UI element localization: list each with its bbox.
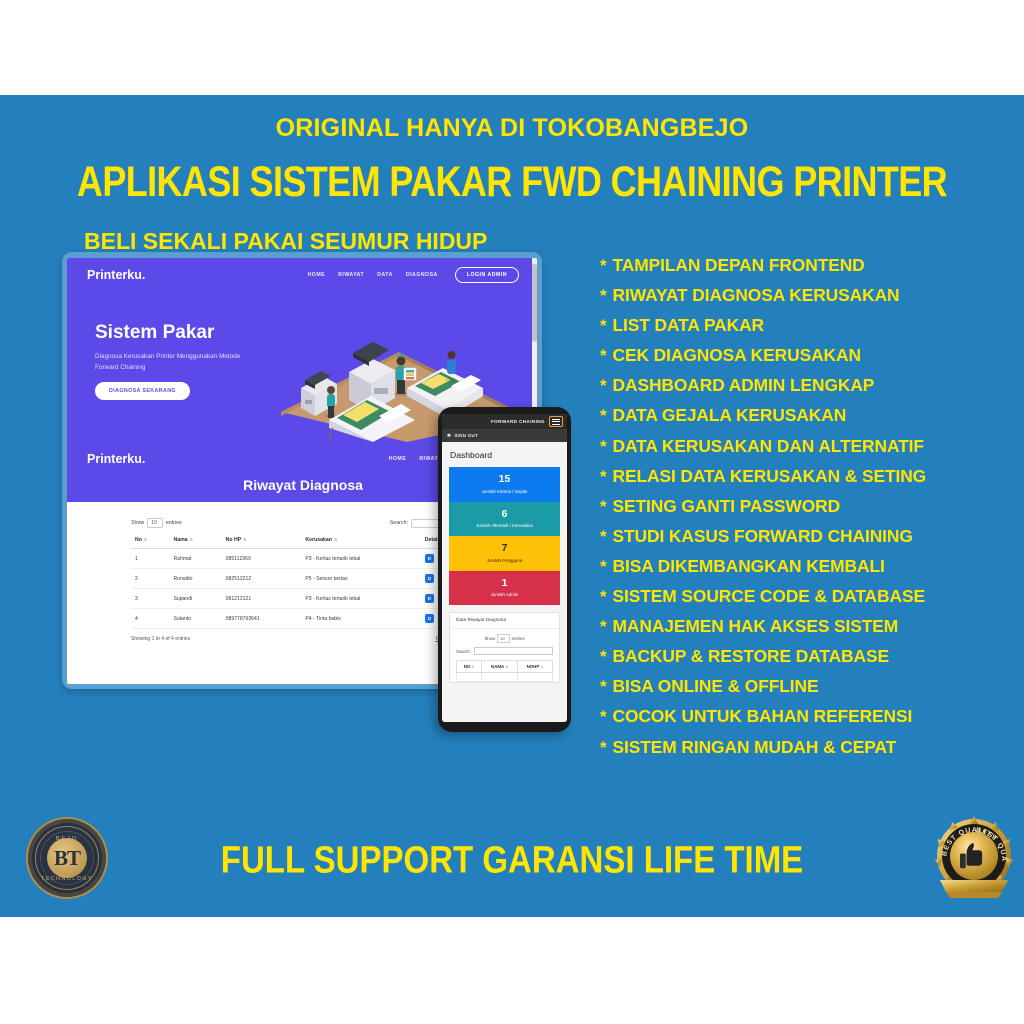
datatable: Show 10 entries Search: No⇅Nama⇅No HP⇅Ke… — [131, 518, 473, 644]
asterisk-icon: * — [600, 738, 607, 758]
asterisk-icon: * — [600, 497, 607, 517]
sort-icon: ⇅ — [505, 665, 508, 669]
feature-label: BACKUP & RESTORE DATABASE — [613, 646, 889, 667]
mobile-table-header-row: NO ⇅NAMA ⇅NOHP ⇅ — [457, 661, 553, 673]
table-row: 2Ronaldo082512212P5 - Sensor kertasD — [131, 569, 473, 589]
feature-label: BISA DIKEMBANGKAN KEMBALI — [613, 556, 885, 577]
login-admin-button[interactable]: LOGIN ADMIN — [455, 267, 519, 283]
feature-label: COCOK UNTUK BAHAN REFERENSI — [613, 706, 913, 727]
sign-out-label: SIGN OUT — [454, 433, 478, 438]
feature-item: *BACKUP & RESTORE DATABASE — [600, 646, 1024, 676]
feature-item: *SISTEM SOURCE CODE & DATABASE — [600, 586, 1024, 616]
asterisk-icon: * — [600, 376, 607, 396]
table-row: 3Supandi081212121P3 - Kertas tertarik te… — [131, 589, 473, 609]
stat-card[interactable]: 6Jumlah Alternatif / Kerusakan — [449, 502, 560, 537]
datatable-footer: Showing 1 to 4 of 4 entries Previous 1 — [131, 634, 473, 644]
mobile-entries-control: Show 10 entries — [456, 634, 553, 643]
feature-label: LIST DATA PAKAR — [613, 315, 764, 336]
feature-label: RELASI DATA KERUSAKAN & SETING — [613, 466, 927, 487]
stat-value: 15 — [451, 474, 558, 486]
mobile-search-input[interactable] — [474, 647, 553, 655]
bejo-technology-badge: BEJO BT TECHNOLOGY — [26, 817, 108, 899]
stat-label: Jumlah Pengguna — [451, 558, 558, 563]
datatable-controls: Show 10 entries Search: — [131, 518, 473, 528]
mobile-show-label-after: entries — [512, 636, 525, 641]
column-header[interactable]: Nama⇅ — [169, 532, 221, 549]
cell-no: 4 — [131, 609, 169, 629]
column-header[interactable]: Kerusakan⇅ — [301, 532, 420, 549]
cell-nohp: 081212121 — [222, 589, 302, 609]
asterisk-icon: * — [600, 557, 607, 577]
riwayat-table: No⇅Nama⇅No HP⇅Kerusakan⇅Detail⇅ 1Rahmat0… — [131, 532, 473, 629]
page-title: APLIKASI SISTEM PAKAR FWD CHAINING PRINT… — [0, 157, 1024, 207]
mobile-search-label: Search: — [456, 649, 471, 654]
mobile-riwayat-table: NO ⇅NAMA ⇅NOHP ⇅ — [456, 660, 553, 682]
asterisk-icon: * — [600, 617, 607, 637]
detail-button[interactable]: D — [425, 594, 434, 603]
feature-item: *DATA KERUSAKAN DAN ALTERNATIF — [600, 436, 1024, 466]
sort-icon: ⇅ — [144, 537, 147, 542]
mobile-card-body: Show 10 entries Search: NO ⇅NAMA ⇅NOHP ⇅ — [450, 629, 559, 682]
feature-item: *COCOK UNTUK BAHAN REFERENSI — [600, 706, 1024, 736]
cell-no: 1 — [131, 549, 169, 569]
cell-no: 2 — [131, 569, 169, 589]
footer-tagline: FULL SUPPORT GARANSI LIFE TIME — [0, 838, 1024, 882]
feature-item: *DATA GEJALA KERUSAKAN — [600, 405, 1024, 435]
cell-kerusakan: P4 - Tinta habis — [301, 609, 420, 629]
mobile-column-header[interactable]: NO ⇅ — [457, 661, 482, 673]
stat-value: 1 — [451, 578, 558, 590]
asterisk-icon: * — [600, 677, 607, 697]
mobile-show-label-before: Show — [484, 636, 495, 641]
mobile-cell — [517, 673, 552, 682]
sort-icon: ⇅ — [334, 537, 337, 542]
asterisk-icon: * — [600, 707, 607, 727]
mobile-entries-select[interactable]: 10 — [497, 634, 509, 643]
stat-value: 6 — [451, 509, 558, 521]
detail-button[interactable]: D — [425, 574, 434, 583]
detail-button[interactable]: D — [425, 614, 434, 623]
feature-label: TAMPILAN DEPAN FRONTEND — [613, 255, 865, 276]
asterisk-icon: * — [600, 647, 607, 667]
cell-nama: Sutanto — [169, 609, 221, 629]
cell-nama: Supandi — [169, 589, 221, 609]
asterisk-icon: * — [600, 467, 607, 487]
hero-subtitle: Diagnosa Kerusakan Printer Menggunakan M… — [95, 352, 260, 373]
sort-icon: ⇅ — [190, 537, 193, 542]
frontend-navbar: Printerku. HOME RIWAYAT DATA DIAGNOSA LO… — [67, 258, 537, 292]
feature-item: *LIST DATA PAKAR — [600, 315, 1024, 345]
site-brand: Printerku. — [87, 268, 145, 282]
feature-label: MANAJEMEN HAK AKSES SISTEM — [613, 616, 899, 637]
feature-label: DATA KERUSAKAN DAN ALTERNATIF — [613, 436, 924, 457]
mobile-table-row — [457, 673, 553, 682]
asterisk-icon: * — [600, 346, 607, 366]
power-icon: ⎈ — [447, 433, 451, 439]
feature-label: STUDI KASUS FORWARD CHAINING — [613, 526, 913, 547]
feature-label: DATA GEJALA KERUSAKAN — [613, 405, 847, 426]
cell-nohp: 085112369 — [222, 549, 302, 569]
feature-item: *STUDI KASUS FORWARD CHAINING — [600, 526, 1024, 556]
hero-title: Sistem Pakar — [95, 322, 214, 344]
feature-item: *SISTEM RINGAN MUDAH & CEPAT — [600, 737, 1024, 767]
nav-item-data[interactable]: DATA — [377, 272, 393, 278]
show-entries-label-before: Show — [131, 520, 144, 526]
asterisk-icon: * — [600, 256, 607, 276]
mobile-screen: FORWARD CHAINING ⎈ SIGN OUT Dashboard 15… — [442, 414, 567, 722]
best-quality-seal: BEST QUALITY BEST QUALITY — [930, 814, 1018, 902]
mobile-cell — [457, 673, 482, 682]
feature-label: SETING GANTI PASSWORD — [613, 496, 841, 517]
sort-icon: ⇅ — [243, 537, 246, 542]
cell-nama: Rahmat — [169, 549, 221, 569]
show-entries-label-after: entries — [166, 520, 182, 526]
headline-small: ORIGINAL HANYA DI TOKOBANGBEJO — [0, 114, 1024, 143]
site-brand-2: Printerku. — [87, 452, 145, 466]
asterisk-icon: * — [600, 316, 607, 336]
asterisk-icon: * — [600, 286, 607, 306]
dashboard-heading: Dashboard — [450, 450, 560, 460]
mobile-riwayat-card: Data Riwayat Diagnosa Show 10 entries Se… — [449, 612, 560, 683]
table-row: 1Rahmat085112369P3 - Kertas tertarik teb… — [131, 549, 473, 569]
mobile-column-header[interactable]: NOHP ⇅ — [517, 661, 552, 673]
feature-label: RIWAYAT DIAGNOSA KERUSAKAN — [613, 285, 900, 306]
cell-kerusakan: P3 - Kertas tertarik tebal — [301, 589, 420, 609]
detail-button[interactable]: D — [425, 554, 434, 563]
stat-card[interactable]: 7Jumlah Pengguna — [449, 536, 560, 571]
mobile-topbar: FORWARD CHAINING — [442, 414, 567, 429]
cell-no: 3 — [131, 589, 169, 609]
table-info: Showing 1 to 4 of 4 entries — [131, 636, 190, 642]
stat-value: 7 — [451, 543, 558, 555]
scrollbar-thumb[interactable] — [532, 264, 537, 342]
mobile-card-title: Data Riwayat Diagnosa — [450, 613, 559, 629]
mobile-app-title: FORWARD CHAINING — [491, 419, 545, 424]
asterisk-icon: * — [600, 437, 607, 457]
headline-third: BELI SEKALI PAKAI SEUMUR HIDUP — [84, 228, 487, 255]
nav-item-diagnosa[interactable]: DIAGNOSA — [406, 272, 438, 278]
nav-item-home[interactable]: HOME — [308, 272, 326, 278]
stat-label: Jumlah Admin — [451, 592, 558, 597]
badge-monogram-circle: BT — [47, 838, 87, 878]
sign-out-button[interactable]: ⎈ SIGN OUT — [442, 429, 567, 442]
mobile-cell — [482, 673, 518, 682]
nav-item-riwayat[interactable]: RIWAYAT — [338, 272, 364, 278]
feature-item: *TAMPILAN DEPAN FRONTEND — [600, 255, 1024, 285]
feature-label: BISA ONLINE & OFFLINE — [613, 676, 819, 697]
hamburger-icon[interactable] — [549, 416, 563, 427]
mobile-body: Dashboard 15Jumlah Kriteria / Gejala6Jum… — [442, 442, 567, 722]
stat-card-list: 15Jumlah Kriteria / Gejala6Jumlah Altern… — [449, 467, 560, 605]
search-label: Search: — [390, 520, 408, 526]
cell-nohp: 089778763641 — [222, 609, 302, 629]
table-header-row: No⇅Nama⇅No HP⇅Kerusakan⇅Detail⇅ — [131, 532, 473, 549]
cell-nama: Ronaldo — [169, 569, 221, 589]
nav2-item-home[interactable]: HOME — [389, 456, 407, 462]
feature-item: *RELASI DATA KERUSAKAN & SETING — [600, 466, 1024, 496]
feature-item: *DASHBOARD ADMIN LENGKAP — [600, 375, 1024, 405]
stat-card[interactable]: 15Jumlah Kriteria / Gejala — [449, 467, 560, 502]
feature-item: *BISA DIKEMBANGKAN KEMBALI — [600, 556, 1024, 586]
seal-ribbon — [940, 880, 1008, 898]
frontend-nav-links: HOME RIWAYAT DATA DIAGNOSA LOGIN ADMIN — [308, 267, 519, 283]
column-header[interactable]: No⇅ — [131, 532, 169, 549]
cell-nohp: 082512212 — [222, 569, 302, 589]
feature-list: *TAMPILAN DEPAN FRONTEND*RIWAYAT DIAGNOS… — [600, 255, 1024, 767]
stat-card[interactable]: 1Jumlah Admin — [449, 571, 560, 606]
table-row: 4Sutanto089778763641P4 - Tinta habisD — [131, 609, 473, 629]
feature-item: *RIWAYAT DIAGNOSA KERUSAKAN — [600, 285, 1024, 315]
column-header[interactable]: No HP⇅ — [222, 532, 302, 549]
feature-item: *CEK DIAGNOSA KERUSAKAN — [600, 345, 1024, 375]
stat-label: Jumlah Kriteria / Gejala — [451, 489, 558, 494]
entries-per-page-select[interactable]: 10 — [147, 518, 163, 528]
feature-label: SISTEM RINGAN MUDAH & CEPAT — [613, 737, 897, 758]
sort-icon: ⇅ — [472, 665, 475, 669]
feature-label: DASHBOARD ADMIN LENGKAP — [613, 375, 875, 396]
asterisk-icon: * — [600, 527, 607, 547]
asterisk-icon: * — [600, 587, 607, 607]
asterisk-icon: * — [600, 406, 607, 426]
sort-icon: ⇅ — [540, 665, 543, 669]
feature-item: *BISA ONLINE & OFFLINE — [600, 676, 1024, 706]
cell-kerusakan: P5 - Sensor kertas — [301, 569, 420, 589]
cell-kerusakan: P3 - Kertas tertarik tebal — [301, 549, 420, 569]
feature-label: SISTEM SOURCE CODE & DATABASE — [613, 586, 925, 607]
badge-monogram: BT — [54, 846, 80, 871]
mobile-search-control: Search: — [456, 647, 553, 655]
feature-item: *MANAJEMEN HAK AKSES SISTEM — [600, 616, 1024, 646]
mobile-mockup: FORWARD CHAINING ⎈ SIGN OUT Dashboard 15… — [438, 407, 571, 732]
mobile-column-header[interactable]: NAMA ⇅ — [482, 661, 518, 673]
stat-label: Jumlah Alternatif / Kerusakan — [451, 523, 558, 528]
badge-bottom-word: TECHNOLOGY — [28, 876, 106, 882]
feature-item: *SETING GANTI PASSWORD — [600, 496, 1024, 526]
poster-canvas: ORIGINAL HANYA DI TOKOBANGBEJO APLIKASI … — [0, 0, 1024, 1024]
diagnosa-sekarang-button[interactable]: DIAGNOSA SEKARANG — [95, 382, 190, 400]
feature-label: CEK DIAGNOSA KERUSAKAN — [613, 345, 861, 366]
